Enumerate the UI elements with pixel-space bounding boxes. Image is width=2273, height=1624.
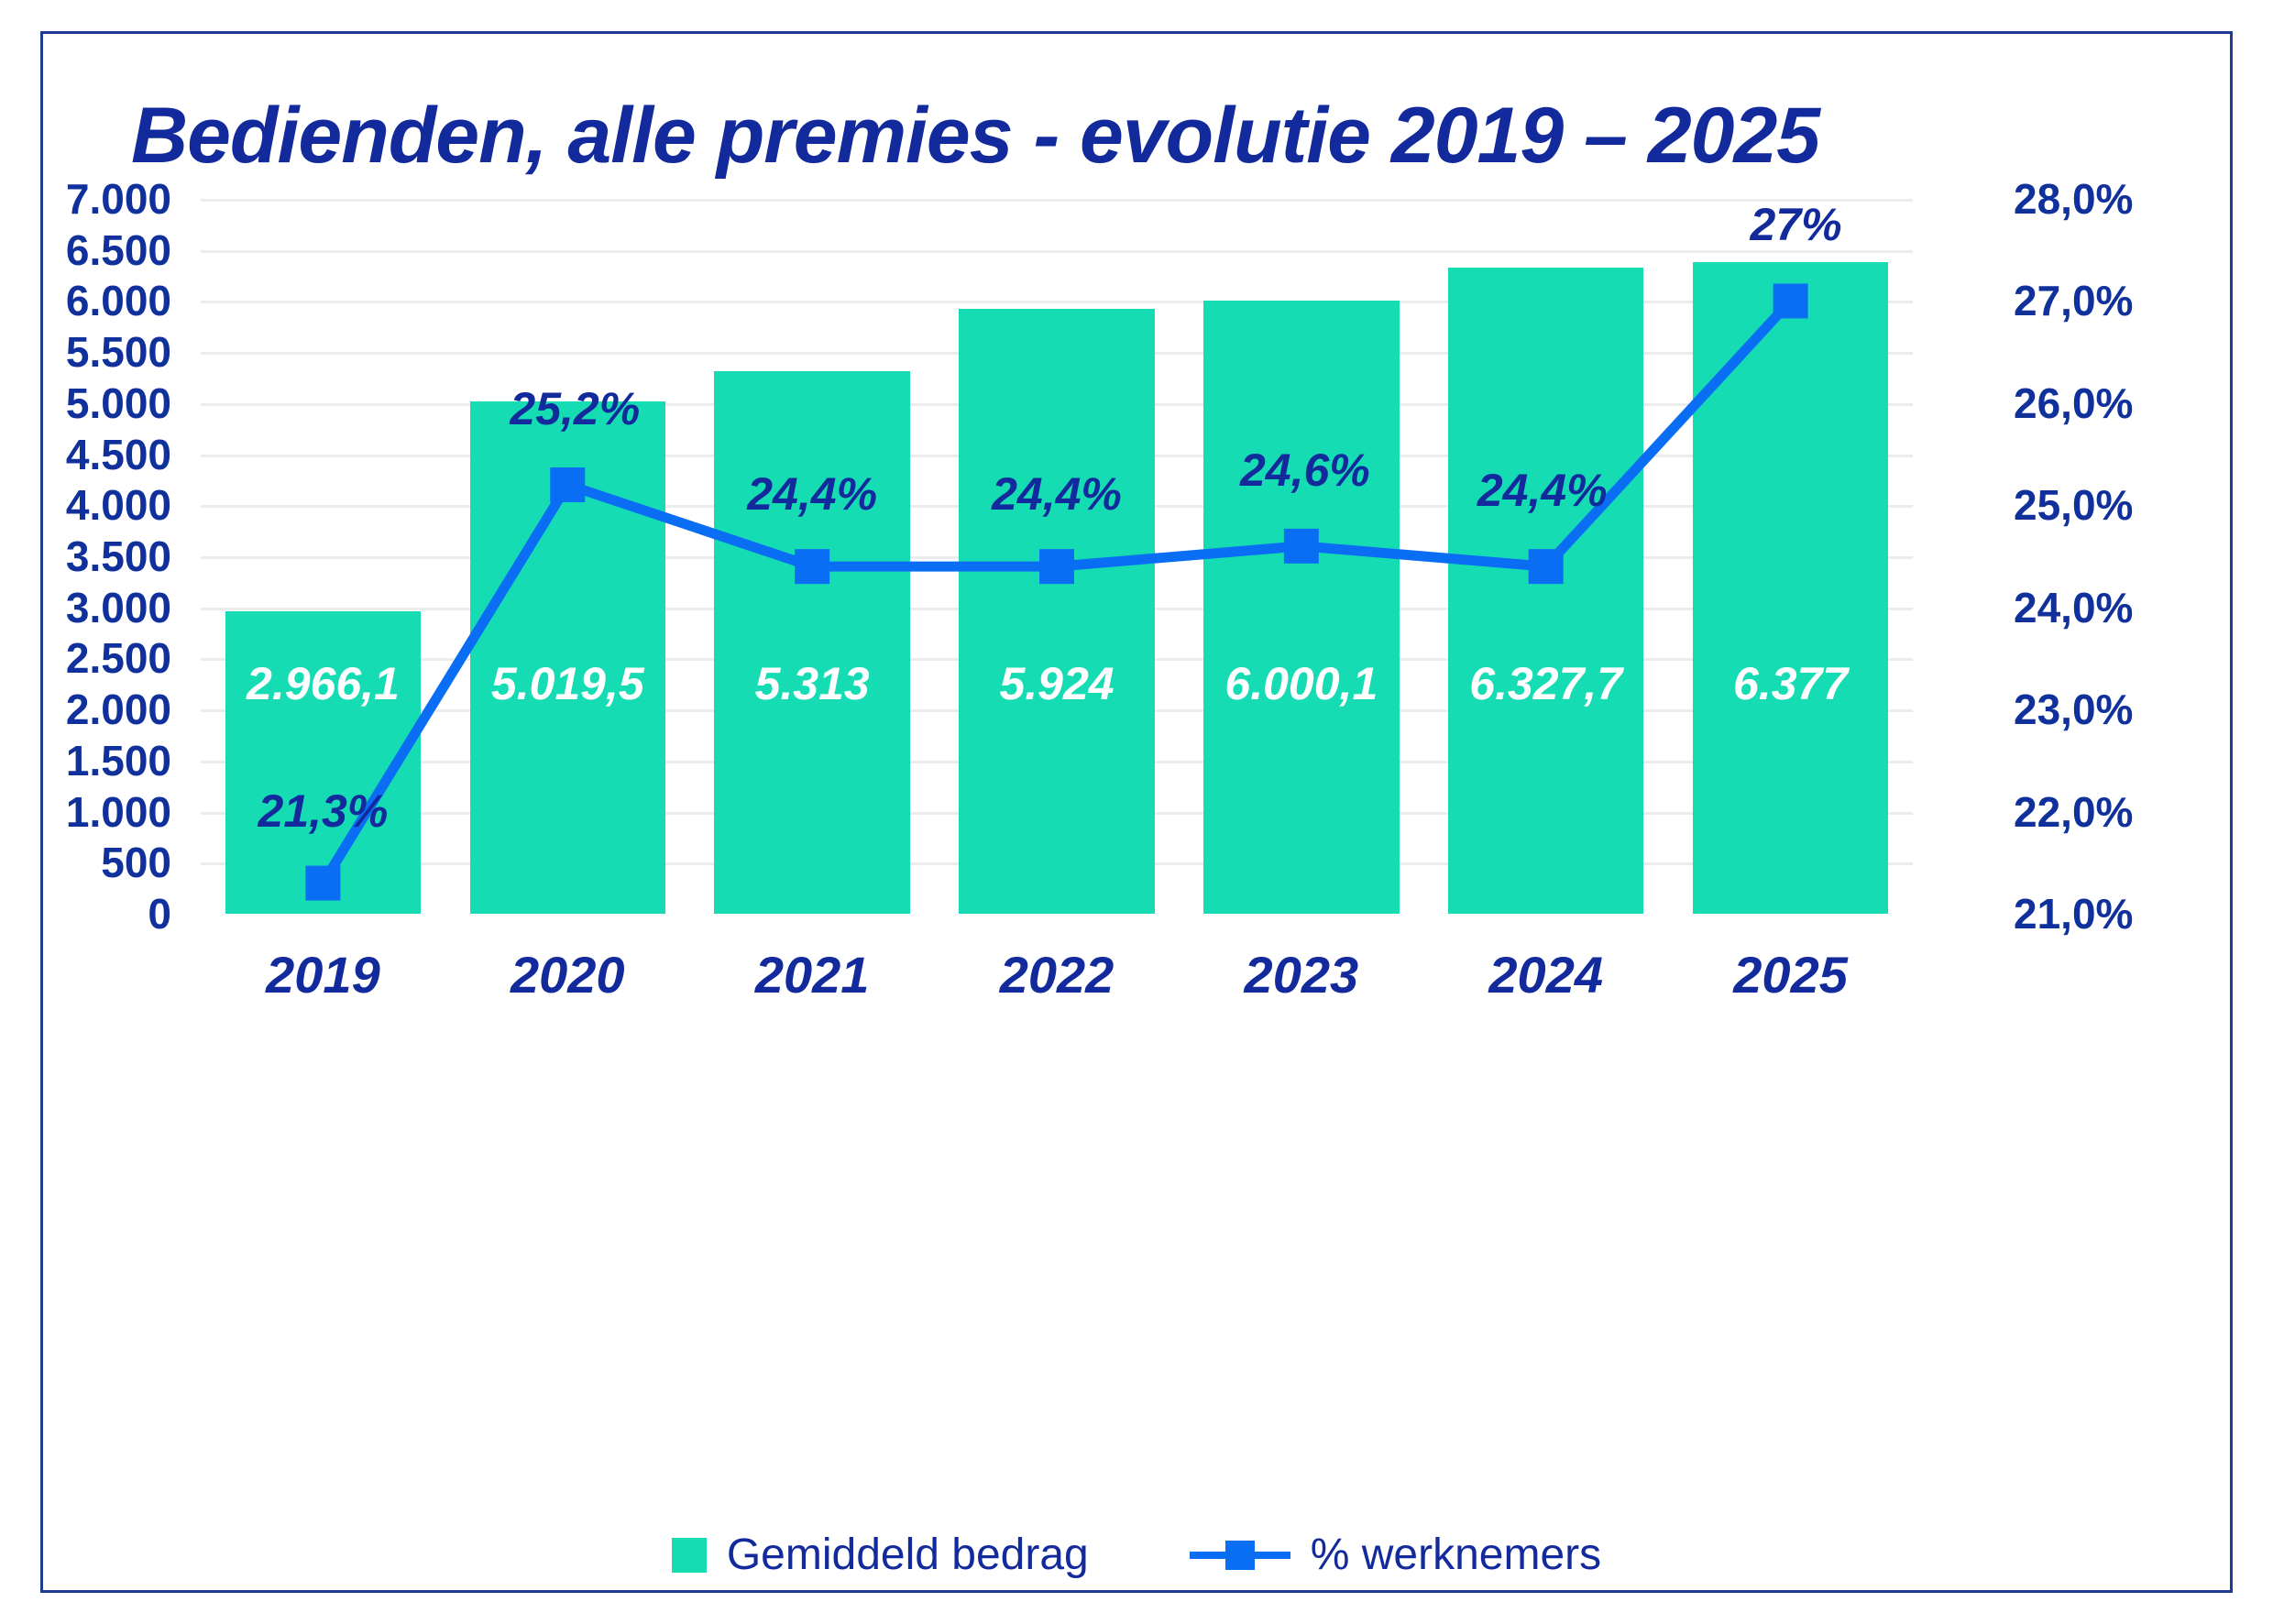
chart-frame: Bedienden, alle premies - evolutie 2019 … <box>40 31 2233 1593</box>
y-axis-right-tick: 26,0% <box>2014 379 2133 428</box>
line-value-label: 24,4% <box>992 467 1122 521</box>
x-axis-tick: 2021 <box>755 945 870 1004</box>
y-axis-left-tick: 5.500 <box>66 327 171 377</box>
y-axis-left-tick: 5.000 <box>66 379 171 428</box>
y-axis-left-tick: 0 <box>148 889 171 938</box>
y-axis-left-tick: 2.500 <box>66 633 171 683</box>
line-value-label: 24,6% <box>1240 444 1370 497</box>
bar-value-label: 5.313 <box>755 657 870 710</box>
bar-value-label: 6.000,1 <box>1224 657 1378 710</box>
y-axis-left-tick: 2.000 <box>66 685 171 734</box>
line-value-label: 21,3% <box>258 785 389 838</box>
gridline <box>201 301 1913 303</box>
legend-bar-swatch-icon <box>672 1538 707 1573</box>
bar[interactable] <box>714 371 909 914</box>
x-axis-tick: 2025 <box>1733 945 1848 1004</box>
bar[interactable] <box>1693 262 1888 914</box>
y-axis-left-tick: 3.500 <box>66 532 171 581</box>
plot-area <box>201 199 1913 914</box>
legend-item-gemiddeld-bedrag[interactable]: Gemiddeld bedrag <box>672 1530 1089 1580</box>
line-value-label: 24,4% <box>747 467 877 521</box>
y-axis-right-tick: 24,0% <box>2014 583 2133 632</box>
y-axis-left-tick: 4.500 <box>66 430 171 479</box>
bar-value-label: 5.924 <box>999 657 1114 710</box>
y-axis-left-tick: 6.500 <box>66 225 171 275</box>
bar-value-label: 2.966,1 <box>247 657 400 710</box>
y-axis-right-tick: 22,0% <box>2014 787 2133 837</box>
legend-item-percent-werknemers[interactable]: % werknemers <box>1190 1530 1601 1580</box>
y-axis-left-tick: 500 <box>101 838 171 887</box>
bar[interactable] <box>1203 301 1399 914</box>
y-axis-left-tick: 7.000 <box>66 174 171 224</box>
x-axis-tick: 2022 <box>1000 945 1115 1004</box>
legend-line-swatch-icon <box>1190 1538 1290 1573</box>
bar-value-label: 6.327,7 <box>1469 657 1622 710</box>
x-axis-tick: 2019 <box>266 945 380 1004</box>
legend-label: % werknemers <box>1311 1530 1601 1580</box>
line-value-label: 24,4% <box>1477 464 1608 517</box>
x-axis-tick: 2020 <box>511 945 625 1004</box>
x-axis-tick: 2024 <box>1488 945 1603 1004</box>
x-axis-tick: 2023 <box>1245 945 1359 1004</box>
bar[interactable] <box>1448 268 1643 914</box>
y-axis-right-tick: 25,0% <box>2014 480 2133 530</box>
y-axis-left-tick: 4.000 <box>66 480 171 530</box>
chart-title: Bedienden, alle premies - evolutie 2019 … <box>131 91 1819 181</box>
line-value-label: 25,2% <box>510 382 640 435</box>
y-axis-right-tick: 27,0% <box>2014 276 2133 325</box>
gridline <box>201 250 1913 253</box>
y-axis-left-tick: 1.000 <box>66 787 171 837</box>
y-axis-right-tick: 21,0% <box>2014 889 2133 938</box>
bar-value-label: 5.019,5 <box>491 657 644 710</box>
y-axis-left-tick: 3.000 <box>66 583 171 632</box>
bar[interactable] <box>959 309 1154 914</box>
legend-label: Gemiddeld bedrag <box>727 1530 1089 1580</box>
line-value-label: 27% <box>1751 198 1842 251</box>
gridline <box>201 199 1913 202</box>
y-axis-left-tick: 6.000 <box>66 276 171 325</box>
y-axis-right-tick: 23,0% <box>2014 685 2133 734</box>
y-axis-left-tick: 1.500 <box>66 736 171 785</box>
chart-legend: Gemiddeld bedrag % werknemers <box>43 1530 2230 1580</box>
y-axis-right-tick: 28,0% <box>2014 174 2133 224</box>
bar-value-label: 6.377 <box>1733 657 1848 710</box>
